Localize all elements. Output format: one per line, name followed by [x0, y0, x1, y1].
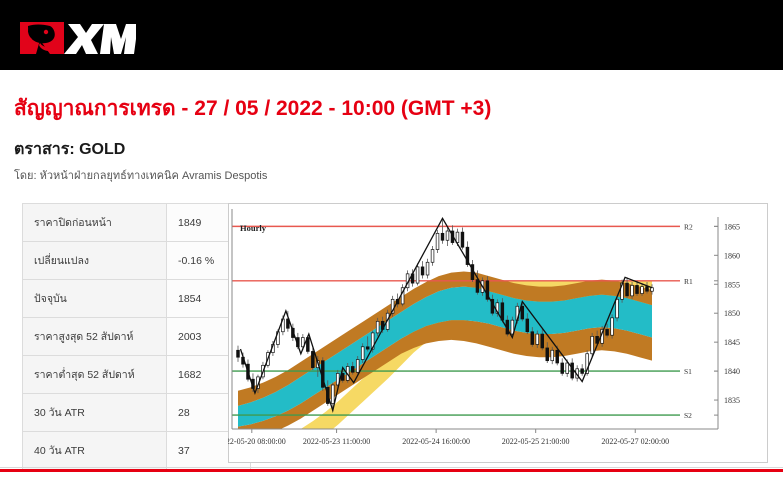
y-tick-label: 1855 [724, 280, 740, 289]
candle-body-down [541, 334, 544, 348]
candle-body-down [531, 332, 534, 345]
stat-label: ปัจจุบัน [23, 280, 167, 318]
candle-body-up [536, 334, 539, 344]
candle-body-up [436, 233, 439, 249]
candle-body-down [646, 287, 649, 292]
xm-logo-graphic [16, 12, 136, 58]
x-tick-label: 2022-05-20 08:00:00 [228, 437, 286, 446]
level-tag-label-r2: R2 [684, 222, 693, 231]
table-row: เปลี่ยนแปลง-0.16 % [23, 242, 251, 280]
candle-body-up [551, 350, 554, 360]
candle-body-down [636, 285, 639, 293]
candle-body-up [331, 385, 334, 404]
candle-body-up [356, 360, 359, 373]
table-row: ปัจจุบัน1854 [23, 280, 251, 318]
x-tick-label: 2022-05-25 21:00:00 [502, 437, 570, 446]
candle-body-up [641, 287, 644, 294]
candle-body-down [461, 232, 464, 247]
candle-body-up [446, 231, 449, 240]
candle-body-down [351, 366, 354, 372]
page-title: สัญญาณการเทรด - 27 / 05 / 2022 - 10:00 (… [14, 92, 491, 125]
y-tick-label: 1850 [724, 309, 740, 318]
level-tag-label-s2: S2 [684, 411, 692, 420]
y-tick-label: 1865 [724, 222, 740, 231]
candle-body-down [421, 267, 424, 275]
candle-body-down [626, 283, 629, 296]
table-row: ราคาต่ำสุด 52 สัปดาห์1682 [23, 356, 251, 394]
stat-label: 40 วัน ATR [23, 432, 167, 470]
candle-body-up [591, 336, 594, 353]
candle-body-down [606, 329, 609, 335]
candle-body-down [476, 280, 479, 293]
level-tag-label-s1: S1 [684, 367, 692, 376]
stat-label: ราคาสูงสุด 52 สัปดาห์ [23, 318, 167, 356]
candle-body-up [631, 285, 634, 295]
x-tick-label: 2022-05-23 11:00:00 [303, 437, 370, 446]
footer-accent-bar [0, 469, 783, 472]
y-tick-label: 1835 [724, 396, 740, 405]
price-chart[interactable]: R2R1S1S218651860185518501845184018352022… [228, 203, 768, 463]
bull-head-icon [20, 22, 64, 54]
candle-body-down [366, 347, 369, 349]
market-stats-body: ราคาปิดก่อนหน้า1849เปลี่ยนแปลง-0.16 %ปัจ… [23, 204, 251, 470]
chart-title: Hourly [240, 223, 267, 233]
candle-body-down [561, 363, 564, 373]
candle-body-down [581, 369, 584, 374]
xm-wordmark [64, 24, 136, 54]
candle-body-down [526, 319, 529, 332]
candle-body-down [441, 233, 444, 240]
candle-body-up [376, 321, 379, 333]
candle-body-up [616, 299, 619, 318]
y-tick-label: 1860 [724, 251, 740, 260]
footer-divider [0, 467, 783, 468]
level-tag-label-r1: R1 [684, 277, 693, 286]
candle-body-up [431, 250, 434, 263]
stat-label: ราคาต่ำสุด 52 สัปดาห์ [23, 356, 167, 394]
trading-signal-page: สัญญาณการเทรด - 27 / 05 / 2022 - 10:00 (… [0, 0, 783, 478]
y-tick-label: 1840 [724, 367, 740, 376]
xm-logo[interactable] [16, 12, 136, 58]
market-stats-table: ราคาปิดก่อนหน้า1849เปลี่ยนแปลง-0.16 %ปัจ… [22, 203, 251, 470]
candle-body-down [521, 306, 524, 319]
stat-label: ราคาปิดก่อนหน้า [23, 204, 167, 242]
table-row: ราคาสูงสุด 52 สัปดาห์2003 [23, 318, 251, 356]
x-tick-label: 2022-05-24 16:00:00 [402, 437, 470, 446]
instrument-label: ตราสาร: GOLD [14, 137, 125, 162]
site-header [0, 0, 783, 70]
candle-body-up [566, 363, 569, 373]
stat-label: 30 วัน ATR [23, 394, 167, 432]
table-row: ราคาปิดก่อนหน้า1849 [23, 204, 251, 242]
plot-area [232, 218, 658, 463]
author-byline: โดย: หัวหน้าฝ่ายกลยุทธ์ทางเทคนิค Avramis… [14, 166, 267, 184]
table-row: 30 วัน ATR28 [23, 394, 251, 432]
y-tick-label: 1845 [724, 338, 740, 347]
candle-body-up [426, 262, 429, 275]
candle-body-up [361, 347, 364, 360]
candle-body-up [651, 288, 654, 291]
candle-body-down [546, 348, 549, 361]
table-row: 40 วัน ATR37 [23, 432, 251, 470]
candle-body-down [237, 350, 240, 357]
candle-body-up [416, 267, 419, 283]
candle-body-down [556, 350, 559, 363]
x-tick-label: 2022-05-27 02:00:00 [601, 437, 669, 446]
candle-body-down [311, 351, 314, 367]
candle-body-up [611, 318, 614, 335]
stat-label: เปลี่ยนแปลง [23, 242, 167, 280]
